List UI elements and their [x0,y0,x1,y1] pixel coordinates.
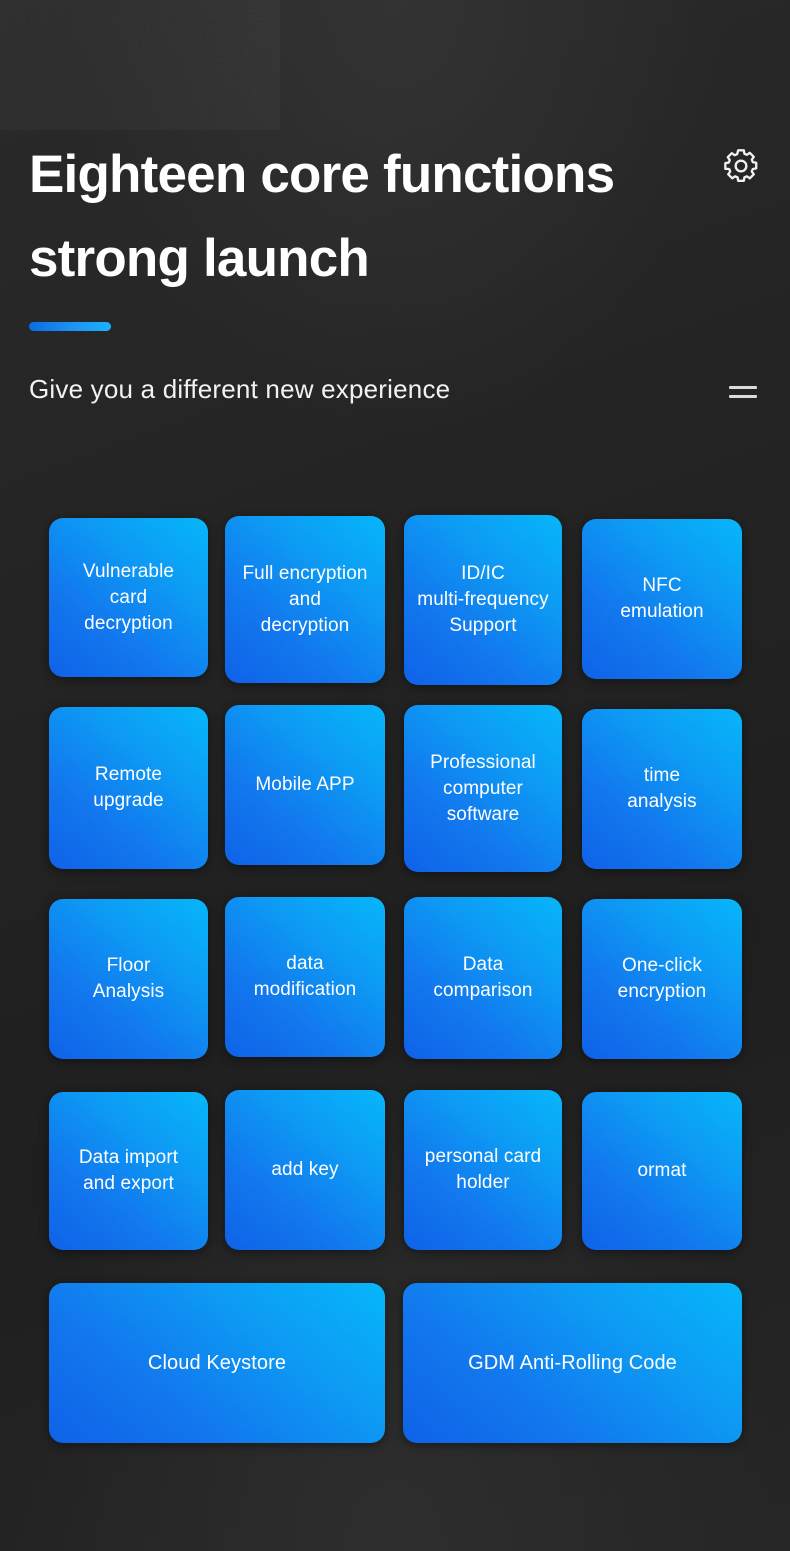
feature-tile-label: time analysis [627,763,696,815]
feature-tile-label: Floor Analysis [93,953,165,1005]
feature-tile-label: GDM Anti-Rolling Code [468,1350,677,1376]
feature-tile[interactable]: ID/IC multi-frequency Support [404,515,562,685]
feature-tile[interactable]: Floor Analysis [49,899,208,1059]
feature-tile-label: data modification [254,951,357,1003]
feature-tile[interactable]: data modification [225,897,385,1057]
feature-tile-label: personal card holder [425,1144,541,1196]
feature-tile[interactable]: time analysis [582,709,742,869]
feature-tile[interactable]: Mobile APP [225,705,385,865]
feature-tile[interactable]: NFC emulation [582,519,742,679]
feature-tile[interactable]: Remote upgrade [49,707,208,869]
feature-tile-label: NFC emulation [620,573,703,625]
feature-tile[interactable]: Data import and export [49,1092,208,1250]
feature-tile-label: Data comparison [433,952,532,1004]
feature-tile[interactable]: Professional computer software [404,705,562,872]
feature-tile-label: Vulnerable card decryption [83,559,174,637]
feature-tile-label: ID/IC multi-frequency Support [417,561,548,639]
feature-tile[interactable]: personal card holder [404,1090,562,1250]
feature-tile-label: Data import and export [79,1145,178,1197]
feature-tile[interactable]: ormat [582,1092,742,1250]
feature-tile-label: add key [271,1157,338,1183]
page-root: Eighteen core functions strong launch Gi… [0,0,790,1551]
feature-tile-grid: Vulnerable card decryptionFull encryptio… [0,0,790,1551]
feature-tile[interactable]: Data comparison [404,897,562,1059]
feature-tile[interactable]: GDM Anti-Rolling Code [403,1283,742,1443]
feature-tile-label: Full encryption and decryption [242,561,367,639]
feature-tile[interactable]: One-click encryption [582,899,742,1059]
feature-tile-label: Professional computer software [430,750,536,828]
feature-tile-label: Remote upgrade [93,762,163,814]
feature-tile-label: Cloud Keystore [148,1350,286,1376]
feature-tile-label: One-click encryption [618,953,707,1005]
feature-tile-label: Mobile APP [255,772,354,798]
feature-tile[interactable]: add key [225,1090,385,1250]
feature-tile[interactable]: Vulnerable card decryption [49,518,208,677]
feature-tile[interactable]: Cloud Keystore [49,1283,385,1443]
feature-tile[interactable]: Full encryption and decryption [225,516,385,683]
feature-tile-label: ormat [637,1158,686,1184]
